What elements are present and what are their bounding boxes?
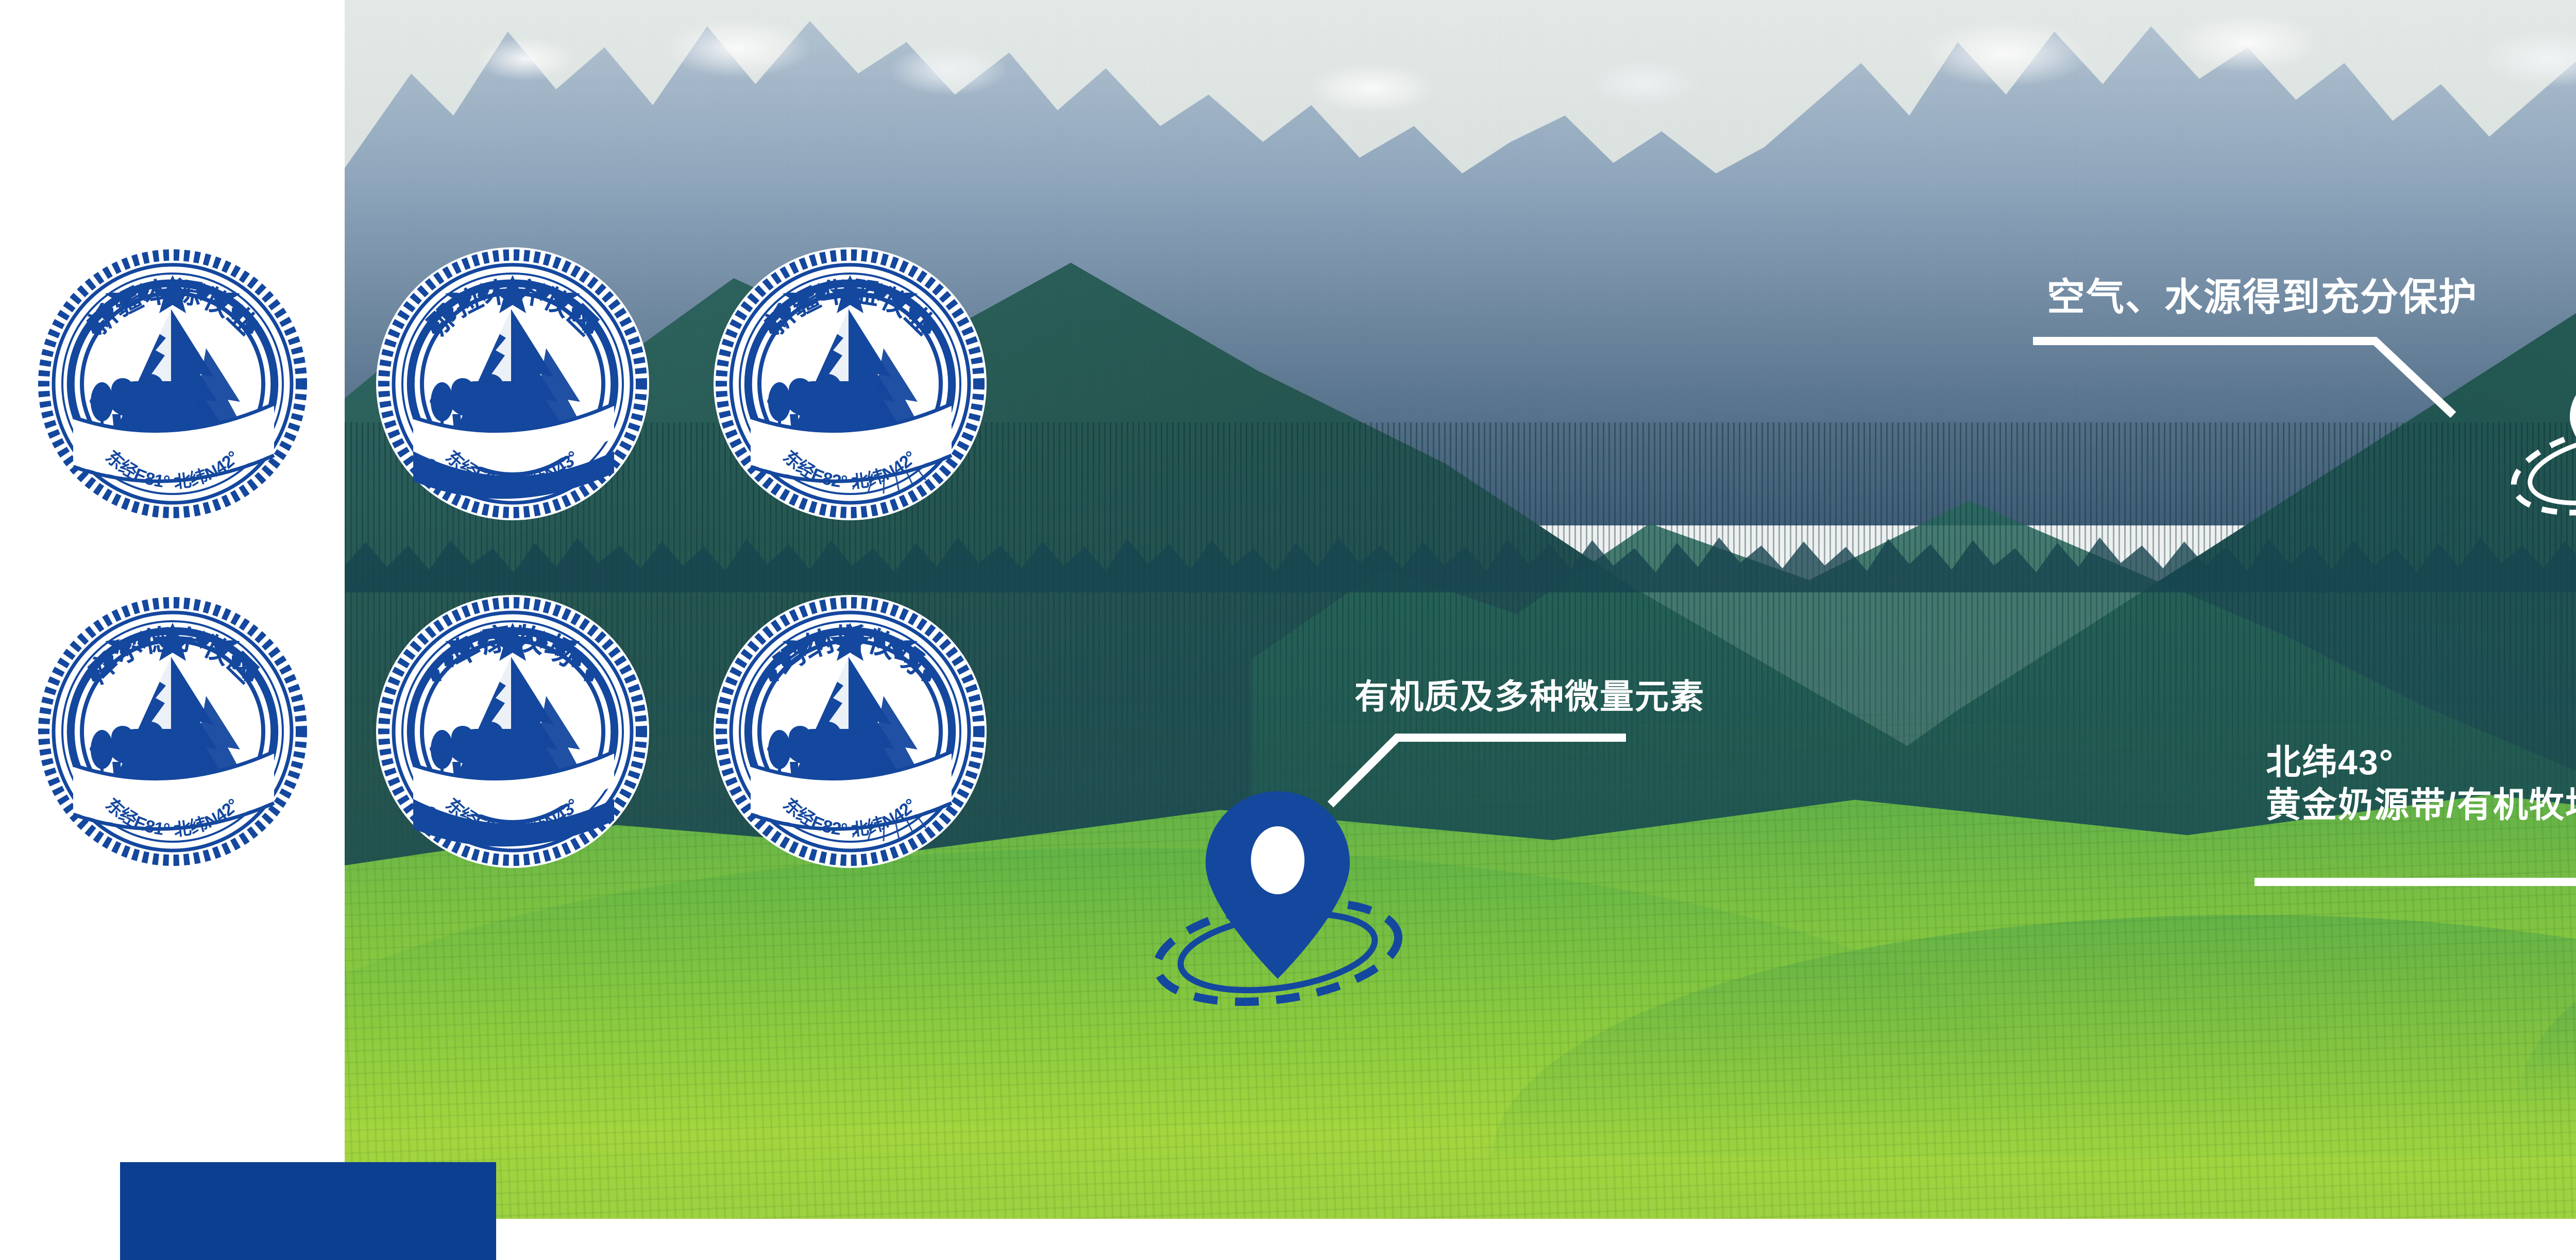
callout-air-water: 空气、水源得到充分保护 — [2047, 274, 2478, 320]
badge-manasi[interactable]: 玛纳斯牧场 东经E82° 北纬N42° — [714, 595, 987, 868]
map-pin-blue-latitude[interactable] — [2571, 876, 2576, 1195]
callout-air-water-label: 空气、水源得到充分保护 — [2047, 274, 2478, 320]
banner-canvas: 新疆本源牧业 东经E81° 北纬N42° — [0, 0, 2576, 1260]
badge-huameng[interactable]: 新疆华盟牧业 东经E82° 北纬N42° — [714, 247, 987, 520]
callout-golden-milk-belt: 北纬43° 黄金奶源带/有机牧场 — [2266, 741, 2576, 827]
callout-golden-milk-belt-line2: 黄金奶源带/有机牧场 — [2266, 784, 2576, 827]
leader-line-golden-milk-belt — [2257, 876, 2576, 999]
map-pin-blue-organic[interactable] — [1128, 773, 1417, 1010]
leader-line-air-water — [2035, 334, 2458, 468]
map-pin-white[interactable] — [2510, 351, 2576, 521]
snow-caps — [345, 0, 2576, 268]
callout-organic-matter-label: 有机质及多种微量元素 — [1354, 676, 1705, 718]
callout-golden-milk-belt-line1: 北纬43° — [2266, 741, 2576, 784]
left-white-panel — [0, 0, 345, 1151]
callout-organic-matter: 有机质及多种微量元素 — [1354, 676, 1705, 718]
badge-fukang[interactable]: 阜康牧场 海拔1387.68米 东经E84° 北纬N43° — [376, 595, 649, 868]
badge-kuerdening[interactable]: 库尔德宁牧区 东经E81° 北纬N42° — [36, 595, 309, 868]
badge-nalamuqi[interactable]: 那拉木齐牧区 海拔1387.68米 东经E84° 北纬N43° — [376, 247, 649, 520]
background-photo — [345, 0, 2576, 1219]
badge-benyuan[interactable]: 新疆本源牧业 东经E81° 北纬N42° — [36, 247, 309, 520]
bottom-left-blue-block — [120, 1162, 496, 1260]
